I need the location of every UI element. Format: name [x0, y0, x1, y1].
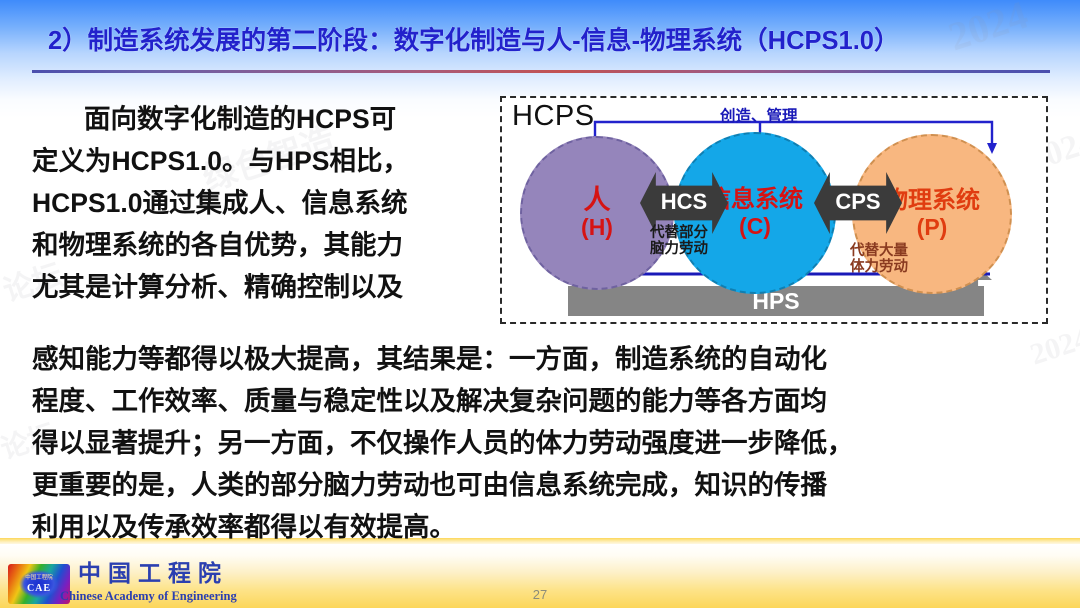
body-line: 得以显著提升；另一方面，不仅操作人员的体力劳动强度进一步降低，	[32, 422, 1052, 464]
note-brain-labour: 代替部分 脑力劳动	[650, 226, 708, 257]
body-line: 定义为HCPS1.0。与HPS相比，	[32, 140, 500, 182]
node-human-sub: (H)	[581, 216, 613, 239]
body-line: 更重要的是，人类的部分脑力劳动也可由信息系统完成，知识的传播	[32, 464, 1052, 506]
hcps-diagram: HCPS 创造、管理 HPS 人	[500, 96, 1048, 324]
node-physical-sub: (P)	[917, 216, 948, 239]
node-human-title: 人	[584, 187, 611, 215]
org-name-cn: 中国工程院	[78, 554, 228, 588]
body-line: HCPS1.0通过集成人、信息系统	[32, 182, 500, 224]
create-manage-label: 创造、管理	[720, 104, 798, 126]
body-text-full: 感知能力等都得以极大提高，其结果是：一方面，制造系统的自动化 程度、工作效率、质…	[32, 338, 1052, 548]
page-number: 27	[0, 587, 1080, 602]
slide-canvas: 202420242024论坛论坛绿色智造绿色智造 2）制造系统发展的第二阶段：数…	[0, 0, 1080, 608]
page-title: 2）制造系统发展的第二阶段：数字化制造与人-信息-物理系统（HCPS1.0）	[48, 20, 899, 57]
note-physical-labour: 代替大量 体力劳动	[850, 244, 908, 275]
note-brain-line2: 脑力劳动	[650, 242, 708, 258]
title-divider	[32, 70, 1050, 73]
body-text-column: 面向数字化制造的HCPS可 定义为HCPS1.0。与HPS相比， HCPS1.0…	[32, 98, 500, 308]
connector-hcs-label: HCS	[661, 189, 707, 215]
note-body-line2: 体力劳动	[850, 260, 908, 276]
body-line: 和物理系统的各自优势，其能力	[32, 224, 500, 266]
body-line: 程度、工作效率、质量与稳定性以及解决复杂问题的能力等各方面均	[32, 380, 1052, 422]
connector-cps-label: CPS	[835, 189, 880, 215]
slide-footer: 中国工程院 CAE 中国工程院 Chinese Academy of Engin…	[0, 552, 1080, 608]
body-line: 尤其是计算分析、精确控制以及	[32, 266, 500, 308]
node-info-sub: (C)	[739, 215, 771, 238]
cae-logo-cn: 中国工程院	[8, 573, 70, 581]
note-body-line1: 代替大量	[850, 244, 908, 260]
note-brain-line1: 代替部分	[650, 226, 708, 242]
diagram-frame-label: HCPS	[512, 100, 595, 133]
body-line: 感知能力等都得以极大提高，其结果是：一方面，制造系统的自动化	[32, 338, 1052, 380]
body-line: 利用以及传承效率都得以有效提高。	[32, 506, 1052, 548]
body-line: 面向数字化制造的HCPS可	[32, 98, 500, 140]
title-bar: 2）制造系统发展的第二阶段：数字化制造与人-信息-物理系统（HCPS1.0）	[0, 20, 1080, 68]
